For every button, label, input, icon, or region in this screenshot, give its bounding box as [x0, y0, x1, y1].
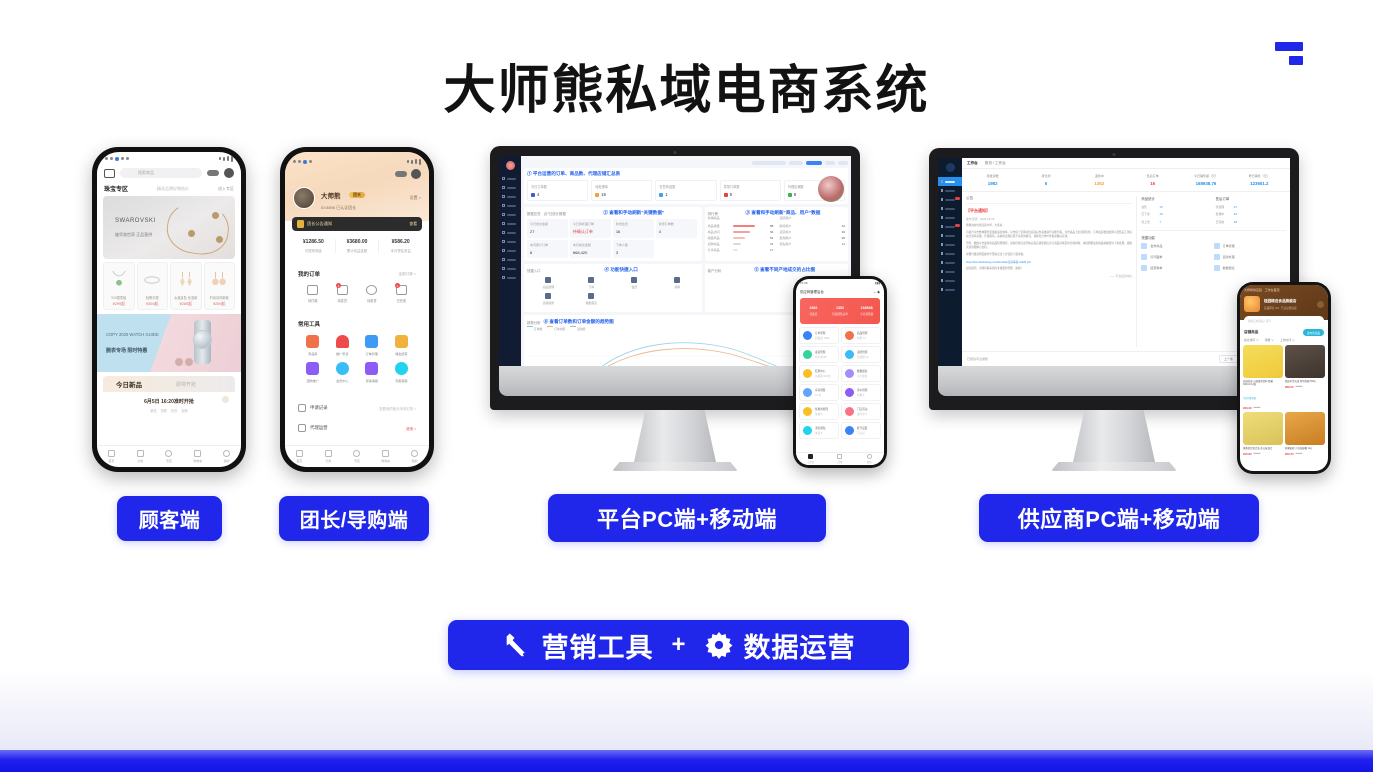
sidebar-item[interactable] — [938, 186, 962, 195]
tab-label: 首页 — [108, 459, 114, 463]
publish-icon — [1141, 243, 1147, 249]
document-icon — [365, 335, 378, 348]
shortcut-item[interactable]: 数据报表 — [1214, 265, 1286, 271]
hero-stat[interactable]: 1352 待处理售后单 — [827, 306, 854, 316]
sidebar-item[interactable] — [499, 246, 521, 255]
publish-product-button[interactable]: 发布新商品 — [1303, 329, 1324, 336]
orders-title: 我的订单 — [298, 270, 320, 278]
profile-text: 大师熊 团长 ID:8896 已认证团长 — [321, 185, 365, 211]
function-card[interactable]: 数据报表今日更新 — [841, 365, 881, 382]
sidebar-item[interactable] — [499, 210, 521, 219]
dashboard-topbar — [524, 159, 848, 166]
card-value: 进行中 3 — [857, 412, 867, 416]
tab-mine[interactable]: 我的 — [400, 450, 429, 463]
stat-item[interactable]: ¥586.20 本月预估收益 — [379, 239, 422, 253]
kpi-value-row: 1 — [659, 192, 712, 197]
section-more-link[interactable]: 进入专区 — [218, 186, 234, 192]
sidebar-item[interactable] — [938, 204, 962, 213]
kpi-value: 8 — [730, 192, 732, 197]
sidebar-item[interactable] — [938, 195, 962, 204]
panel-header: 数据总览 近7日统计数据 ② 查看和手动刷新“关键数据” — [527, 210, 699, 216]
metric-label: 今日成交金额 — [530, 222, 565, 226]
tool-item[interactable]: 商品库 — [298, 335, 328, 356]
function-card[interactable]: 退款管理待处理 22 — [841, 346, 881, 363]
stat-label: 累计收益金额 — [336, 248, 379, 253]
accessory-dot — [185, 358, 193, 366]
ranking-rows: 商品销量88 商品访问66 收藏商品52 加购商品31 分享商品17 — [708, 223, 774, 253]
stock-alert-icon — [803, 388, 812, 397]
kpi-row: 今日订单数 4 待处理单 19 在售商品数 1 — [527, 180, 845, 201]
product-price: ¥299起 — [113, 302, 125, 307]
product-old-price: ¥98.00 — [1296, 386, 1303, 388]
kpi-card[interactable]: 今日销售额（元）168938.76 — [1179, 174, 1232, 186]
refund-icon — [845, 350, 854, 359]
sidebar-item[interactable] — [499, 264, 521, 273]
product-price: ¥52.00 — [1285, 452, 1294, 456]
list-item-label: 申请记录 — [310, 405, 328, 411]
sidebar-item[interactable] — [499, 192, 521, 201]
panel-tag: 趋势分析 — [527, 320, 541, 325]
tool-label: 商品库 — [308, 351, 317, 356]
report-icon — [845, 369, 854, 378]
panel-tag: 客户分析 — [708, 268, 722, 273]
sidebar-item[interactable] — [938, 231, 962, 240]
new-arrivals-cols: 新品 抢购 折扣 包邮 — [103, 408, 235, 413]
card-value: 今日更新 — [857, 374, 867, 378]
gear-icon — [704, 630, 734, 660]
ranking-panel: 排行榜 ③ 查看和手动刷新“商品、用户”数据 热销商品 商品销量88 商品访问6… — [705, 207, 848, 261]
cart-icon — [336, 335, 349, 348]
panel-header: 快捷入口 ④ 功能快捷入口 — [527, 267, 699, 273]
topbar-chip[interactable] — [838, 161, 848, 165]
kpi-card[interactable]: 待发货数1982 — [966, 174, 1019, 186]
kpi-card[interactable]: 今日订单数 4 — [527, 180, 588, 201]
hero-stat[interactable]: 168938 今日销售额 — [853, 306, 880, 316]
sidebar-item[interactable] — [938, 285, 962, 294]
refund-icon — [1214, 254, 1220, 260]
message-icon[interactable] — [104, 169, 115, 178]
stat-value: 47 — [1234, 205, 1237, 209]
label-platform-client[interactable]: 平台PC端+移动端 — [548, 494, 826, 542]
kpi-card[interactable]: 昨日销售（元）123651.2 — [1233, 174, 1286, 186]
tool-item[interactable]: 推广带货 — [328, 335, 358, 356]
user-icon — [411, 450, 418, 457]
tools-title: 常用工具 — [298, 320, 320, 328]
coupon-icon — [803, 407, 812, 416]
stat-key: 待处理 — [1216, 205, 1230, 209]
product-price: ¥289起 — [180, 302, 192, 307]
status-bar — [293, 155, 421, 168]
product-name: 水晶耳坠 优选款 — [174, 295, 197, 300]
earnings-stats: ¥1286.50 可提现佣金 ¥3680.00 累计收益金额 ¥586.20 本… — [292, 233, 422, 258]
panel-heading: ④ 功能快捷入口 — [544, 267, 699, 273]
panel-tag: 数据总览 — [527, 211, 541, 216]
activity-icon — [845, 407, 854, 416]
feature-banner[interactable]: 营销工具 + 数据运营 — [448, 620, 909, 670]
profile-row: 大师熊 团长 ID:8896 已认证团长 设置 > — [293, 185, 421, 211]
sidebar-item[interactable] — [938, 276, 962, 285]
card-value: 生效 6 — [815, 412, 828, 416]
list-item-label: 代理运营 — [310, 425, 328, 431]
product-name: 轻奢手镯 — [146, 295, 159, 300]
poster-icon — [365, 362, 378, 375]
list-item[interactable]: 申请记录 查看我的团长申请记录 > — [292, 400, 422, 416]
section-header-jewelry: 珠宝专区 精选品牌好物低价 进入专区 — [97, 180, 241, 196]
sidebar-item[interactable] — [938, 240, 962, 249]
stat-item[interactable]: ¥3680.00 累计收益金额 — [336, 239, 380, 253]
card-value: 待打单 86 — [815, 355, 826, 359]
metric-label: 新增订单数 — [659, 222, 694, 226]
row-value: 36 — [842, 230, 845, 234]
breadcrumb-path: 首页 / 工作台 — [985, 161, 1006, 166]
webcam-icon — [1113, 153, 1116, 156]
sidebar-item[interactable] — [938, 258, 962, 267]
shortcut-item[interactable]: 订单管理 — [1214, 243, 1286, 249]
supplier-kpi-row: 待发货数1982 待付款5 退款中1352 售后订单16 今日销售额（元）168… — [962, 169, 1290, 192]
bag-icon — [325, 450, 332, 457]
product-card[interactable]: 桂园优选 山楂果茶饮料 整箱 300ml×12瓶 今日特惠包邮 ¥39.90¥5… — [1243, 345, 1283, 410]
star-icon — [353, 450, 360, 457]
tab-home[interactable]: 首页 — [285, 450, 314, 463]
card-label: 订单管理 — [815, 331, 829, 335]
shortcut-item[interactable]: 发布商品 — [1141, 243, 1213, 249]
product-card[interactable]: 轻奢手镯 ¥359起 — [137, 262, 169, 310]
product-card[interactable]: 水晶耳坠 优选款 ¥289起 — [170, 262, 202, 310]
stat-value: ¥3680.00 — [336, 239, 379, 245]
tab-category[interactable]: 分类 — [126, 450, 155, 463]
hero-subtitle: 施华洛世奇 正品直供 — [115, 232, 152, 238]
filter-sort[interactable]: 综合排序 ∨ — [1244, 338, 1259, 342]
function-card[interactable]: 账号设置已认证 — [841, 422, 881, 439]
hero-stat[interactable]: 1982 待发货 — [800, 306, 827, 316]
shortcut-label: 发布商品 — [1150, 244, 1162, 248]
share-icon[interactable] — [1317, 301, 1324, 308]
product-image — [1285, 345, 1325, 378]
product-old-price: ¥79.00 — [1296, 453, 1303, 455]
kpi-value: 5 — [1019, 181, 1072, 186]
stat-value: 18 — [1234, 220, 1237, 224]
row-key: 商品销量 — [708, 224, 730, 228]
announcement-paragraph: 为提升平台整体服务质量和运营效率，平台将于近期对供应商后台系统进行功能升级，包含… — [966, 231, 1132, 239]
announcement-date: 发布日期：2025-06-05 — [966, 217, 1132, 221]
banner-watch-promo[interactable]: COPY 2025 WATCH GUIDE 腕表专场 限时特惠 — [97, 314, 241, 372]
tool-item[interactable]: 佣金结算 — [387, 335, 417, 356]
kpi-label: 在售商品数 — [659, 184, 712, 189]
kpi-card[interactable]: 在售商品数 1 — [655, 180, 716, 201]
kpi-panel: ① 平台运营的订单、商品数、代理店铺汇总表 今日订单数 4 待处理单 19 — [524, 168, 848, 204]
sidebar-item-workbench[interactable] — [938, 177, 962, 186]
tab-workbench[interactable]: 工作台 — [967, 161, 978, 166]
status-left-icons — [293, 160, 312, 164]
filter-listing-time[interactable]: 上架时间 ∨ — [1280, 338, 1295, 342]
tool-item[interactable]: 营销海报 — [357, 362, 387, 383]
product-name: 桂园优选 山楂果茶饮料 整箱 300ml×12瓶 — [1243, 380, 1283, 386]
order-status-toship[interactable]: 2 待发货 — [328, 285, 358, 303]
order-icon — [837, 454, 842, 459]
tab-upcoming[interactable]: 即将开抢 — [142, 381, 196, 388]
search-input[interactable]: 搜索商品 — [120, 168, 202, 178]
hero-header-line: 大师熊供应链 · 工作台首页 — [1244, 288, 1324, 292]
section-title: 珠宝专区 — [104, 184, 128, 193]
tool-item[interactable]: 会员中心 — [328, 362, 358, 383]
product-card[interactable]: 精选干货礼盒 厚切肉脯 500g ¥68.00¥98.00 — [1285, 345, 1325, 410]
status-time: 15:08 — [800, 281, 808, 285]
earring-icon — [177, 268, 195, 292]
hero-actions — [293, 168, 421, 180]
shortcut-grid: 商品管理 订单 会员 营销 店铺装修 数据报表 — [527, 277, 699, 309]
settlement-icon — [1141, 265, 1147, 271]
kpi-card[interactable]: 异常订单数 8 — [720, 180, 781, 201]
sidebar-item[interactable] — [938, 249, 962, 258]
kpi-label: 售后订单 — [1126, 174, 1179, 178]
leader-hero: 大师熊 团长 ID:8896 已认证团长 设置 > — [285, 152, 429, 221]
customer-app-screen: 搜索商品 珠宝专区 精选品牌好物低价 进入专区 SWAROVSKI 施华洛世奇 … — [97, 152, 241, 467]
order-status-unpaid[interactable]: 待付款 — [298, 285, 328, 303]
goods-icon — [845, 331, 854, 340]
kpi-value: 1352 — [1073, 181, 1126, 186]
label-customer-client[interactable]: 顾客端 — [117, 496, 222, 541]
bottom-tabbar: 首页 分类 专区 购物车 我的 — [285, 445, 429, 467]
tab-cart[interactable]: 购物车 — [183, 450, 212, 463]
tool-item[interactable]: 订单管理 — [357, 335, 387, 356]
sidebar-item[interactable] — [499, 255, 521, 264]
status-right-icons — [407, 159, 421, 165]
announcement-link[interactable]: https://bss.dashixiong.com/docs/faq/注意事项… — [966, 260, 1132, 264]
shortcut-item[interactable]: 店铺装修 — [527, 293, 570, 305]
hero-banner-swarovski[interactable]: SWAROVSKI 施华洛世奇 正品直供 — [103, 196, 235, 259]
function-card[interactable]: 门店活动进行中 3 — [841, 403, 881, 420]
stat-key: 已完成 — [1216, 220, 1230, 224]
supplier-sidebar — [938, 158, 962, 366]
metric-cell[interactable]: 本月成交金额¥68,420 — [570, 240, 611, 258]
wrench-icon — [501, 630, 531, 660]
product-image — [1285, 412, 1325, 445]
product-card[interactable]: 925银项链 ¥299起 — [103, 262, 135, 310]
metric-cell[interactable]: 下单人数3 — [613, 240, 654, 258]
list-item-meta: 邀请 > — [406, 426, 416, 431]
notification-badge — [955, 197, 960, 201]
star-icon — [165, 450, 172, 457]
orders-more-link[interactable]: 全部订单 > — [399, 272, 416, 277]
metric-cell[interactable]: 新增会员16 — [613, 219, 654, 238]
kpi-value: 16 — [1126, 181, 1179, 186]
tool-label: 佣金结算 — [395, 351, 407, 356]
metric-value: 待确认订单 — [573, 229, 608, 235]
tab-zone[interactable]: 专区 — [343, 450, 372, 463]
shortcut-item[interactable]: 数据报表 — [570, 293, 613, 305]
metric-cell[interactable]: 今日待处理订单待确认订单 — [570, 219, 611, 238]
stat-value: 7 — [1159, 220, 1161, 224]
avatar[interactable] — [224, 168, 234, 178]
sidebar-item[interactable] — [499, 228, 521, 237]
tab-workbench[interactable]: 工作台 — [796, 453, 825, 465]
function-card[interactable]: 结算中心可提现 ¥6.8万 — [799, 365, 839, 382]
shortcut-label: 数据报表 — [1223, 266, 1235, 270]
product-card[interactable]: 原蜜枇杷 小包装蜂蜜 1kg ¥52.00¥79.00 — [1285, 412, 1325, 456]
kpi-label: 今日销售额（元） — [1179, 174, 1232, 178]
label-supplier-client[interactable]: 供应商PC端+移动端 — [979, 494, 1259, 542]
stat-value: ¥1286.50 — [292, 239, 335, 245]
promo-thumbnail — [818, 176, 844, 202]
tab-home[interactable]: 首页 — [97, 450, 126, 463]
sidebar-item[interactable] — [499, 273, 521, 282]
stat-row: 已完成18 — [1216, 220, 1286, 224]
ranking-row: 流失用户11 — [779, 241, 845, 247]
megaphone-icon — [297, 220, 304, 228]
stat-item[interactable]: ¥1286.50 可提现佣金 — [292, 239, 336, 253]
footer-note: 已阅读平台通知 — [967, 357, 988, 361]
kpi-card[interactable]: 待付款5 — [1019, 174, 1072, 186]
kpi-card[interactable]: 售后订单16 — [1126, 174, 1179, 186]
announcement-panel: 公告 【平台通知】 发布日期：2025-06-05 尊敬的各位供应商伙伴，大家好… — [966, 196, 1137, 347]
supplier-store-screen: 大师熊供应链 · 工作台首页 桂园精选食品旗舰店 店铺评分 4.9 · 已认证供… — [1240, 285, 1328, 471]
store-product-list: 桂园优选 山楂果茶饮料 整箱 300ml×12瓶 今日特惠包邮 ¥39.90¥5… — [1240, 345, 1328, 456]
kpi-value-row: 8 — [724, 192, 777, 197]
kpi-card[interactable]: 待处理单 19 — [591, 180, 652, 201]
product-image — [1243, 345, 1283, 378]
shortcut-label: 数据报表 — [586, 301, 597, 305]
topbar-chip[interactable] — [752, 161, 786, 165]
new-arrivals-section: 今日新品 即将开抢 6月5日 16:20准时开抢 新品 抢购 折扣 包邮 — [97, 376, 241, 415]
sidebar-item[interactable] — [938, 213, 962, 222]
metric-cell[interactable]: 本月累计订单8 — [527, 240, 568, 258]
kpi-value: 19 — [601, 192, 606, 197]
phone-mockup-supplier-store: 大师熊供应链 · 工作台首页 桂园精选食品旗舰店 店铺评分 4.9 · 已认证供… — [1237, 282, 1331, 474]
filter-sales[interactable]: 销量 ∨ — [1265, 338, 1274, 342]
product-card[interactable]: 时尚耳饰新款 ¥259起 — [204, 262, 236, 310]
shortcut-item[interactable]: 结算账单 — [1141, 265, 1213, 271]
tab-mine[interactable]: 我的 — [855, 453, 884, 465]
shortcut-item[interactable]: 退款处理 — [1214, 254, 1286, 260]
tools-grid: 商品库 推广带货 订单管理 佣金结算 — [298, 335, 416, 389]
hero-stats-card: 1982 待发货 1352 待处理售后单 168938 今日销售额 — [800, 298, 880, 324]
tab-zone[interactable]: 专区 — [155, 450, 184, 463]
sidebar-item[interactable] — [499, 183, 521, 192]
prev-button[interactable]: 上一条 — [1219, 355, 1238, 363]
metric-label: 本月成交金额 — [573, 243, 608, 247]
banner-line2: 腕表专场 限时特惠 — [106, 347, 147, 354]
settings-gear-icon[interactable] — [411, 169, 421, 179]
tab-orders[interactable]: 订单 — [825, 453, 854, 465]
topbar-chip[interactable] — [825, 161, 835, 165]
order-status-done[interactable]: 1 已完成 — [387, 285, 417, 303]
stat-row: 待处理47 — [1216, 205, 1286, 209]
notice-bar[interactable]: 团长公告通知 查看 — [292, 217, 422, 231]
shortcut-item[interactable]: 订单 — [570, 277, 613, 289]
metric-cell[interactable]: 新增订单数4 — [656, 219, 697, 238]
card-label: 发货管理 — [815, 350, 826, 354]
shortcut-label: 订单 — [589, 285, 595, 289]
settings-link[interactable]: 设置 > — [410, 195, 421, 201]
metric-label: 本月累计订单 — [530, 243, 565, 247]
wallet-icon — [307, 285, 318, 295]
report-icon — [588, 293, 594, 299]
store-text: 桂园精选食品旗舰店 店铺评分 4.9 · 已认证供应商 — [1264, 299, 1297, 310]
notice-action[interactable]: 查看 — [409, 222, 417, 227]
print-icon — [1141, 254, 1147, 260]
metric-cell[interactable]: 今日成交金额27 — [527, 219, 568, 238]
tab-mine[interactable]: 我的 — [212, 450, 241, 463]
tool-item[interactable]: 专属客服 — [387, 362, 417, 383]
sidebar-item[interactable] — [938, 222, 962, 231]
hero-stat-value: 1352 — [827, 306, 854, 310]
tab-category[interactable]: 分类 — [314, 450, 343, 463]
announcement-paragraph: 另外，根据平台最新的商品管理规范，请各位供应商尽快完善店铺资质信息与商品详情页的… — [966, 242, 1132, 250]
product-card[interactable]: 果香茶饮组合装 多口味混合 ¥45.80¥69.00 — [1243, 412, 1283, 456]
sidebar-item[interactable] — [499, 219, 521, 228]
function-card[interactable]: 商品管理在售 72 — [841, 327, 881, 344]
tool-item[interactable]: 团购推广 — [298, 362, 328, 383]
tab-cart[interactable]: 购物车 — [371, 450, 400, 463]
sidebar-item[interactable] — [499, 174, 521, 183]
section-subtitle: 精选品牌好物低价 — [157, 186, 189, 192]
function-card[interactable]: 消息通知未读 5 — [799, 422, 839, 439]
order-status-shipped[interactable]: 待收货 — [357, 285, 387, 303]
shortcut-item[interactable]: 打印面单 — [1141, 254, 1213, 260]
announcement-footer-note: 如有疑问，可随时联系您的专属服务经理。谢谢！ — [966, 267, 1132, 271]
sidebar-item[interactable] — [938, 267, 962, 276]
role-badge: 团长 — [349, 192, 365, 198]
status-right-icons — [219, 156, 233, 162]
shortcuts-panel: 快捷功能 发布商品 订单管理 打印面单 退款处理 结算账单 数据报表 — [1141, 230, 1286, 276]
shop-decoration-icon — [545, 293, 551, 299]
scan-icon[interactable] — [207, 170, 219, 176]
sidebar-item[interactable] — [499, 237, 521, 246]
status-left-icons — [105, 157, 129, 161]
label-leader-client[interactable]: 团长/导购端 — [279, 496, 429, 541]
row-value: 88 — [770, 224, 773, 228]
shortcut-label: 营销 — [674, 285, 680, 289]
topbar-chip[interactable] — [789, 161, 803, 165]
card-label: 退款管理 — [857, 350, 868, 354]
shortcut-item[interactable]: 会员 — [613, 277, 656, 289]
shortcut-item[interactable]: 营销 — [656, 277, 699, 289]
product-old-price: ¥69.00 — [1254, 453, 1261, 455]
function-card[interactable]: 优惠券管理生效 6 — [799, 403, 839, 420]
navbar-actions[interactable]: ⌄ ◉ — [873, 290, 880, 294]
metric-value: 4 — [659, 229, 694, 234]
scan-icon[interactable] — [395, 171, 407, 177]
function-card[interactable]: 发货管理待打单 86 — [799, 346, 839, 363]
function-card[interactable]: 订单管理待发货 1982 — [799, 327, 839, 344]
notice-text: 团长公告通知 — [307, 221, 332, 227]
order-icon — [588, 277, 594, 283]
product-tag: 今日特惠包邮 — [1243, 396, 1256, 400]
shortcut-item[interactable]: 商品管理 — [527, 277, 570, 289]
card-label: 结算中心 — [815, 369, 831, 373]
store-search-input[interactable]: 搜索店内商品 / 货号 — [1244, 316, 1324, 325]
breadcrumb: 工作台 首页 / 工作台 — [962, 158, 1290, 169]
function-card[interactable]: 评价管理新增 9 — [841, 384, 881, 401]
panel-heading: ⑤ 查看不同产地成交的占比图 — [724, 267, 845, 273]
goods-icon — [545, 277, 551, 283]
kpi-card[interactable]: 退款中1352 — [1073, 174, 1126, 186]
new-activity-button[interactable] — [806, 161, 822, 165]
avatar[interactable] — [293, 187, 315, 209]
sidebar-item[interactable] — [499, 201, 521, 210]
tab-new-today[interactable]: 今日新品 — [103, 379, 142, 389]
list-item[interactable]: 代理运营 邀请 > — [292, 420, 422, 436]
coupon-icon — [298, 424, 306, 432]
tools-header: 常用工具 — [298, 320, 416, 328]
store-name: 桂园精选食品旗舰店 — [1264, 299, 1297, 304]
function-card[interactable]: 库存预警12 条 — [799, 384, 839, 401]
stat-label: 可提现佣金 — [292, 248, 335, 253]
hero-stat-value: 1982 — [800, 306, 827, 310]
bottom-gradient — [0, 670, 1373, 750]
notice-left: 团长公告通知 — [297, 220, 332, 228]
kpi-label: 异常订单数 — [724, 184, 777, 189]
